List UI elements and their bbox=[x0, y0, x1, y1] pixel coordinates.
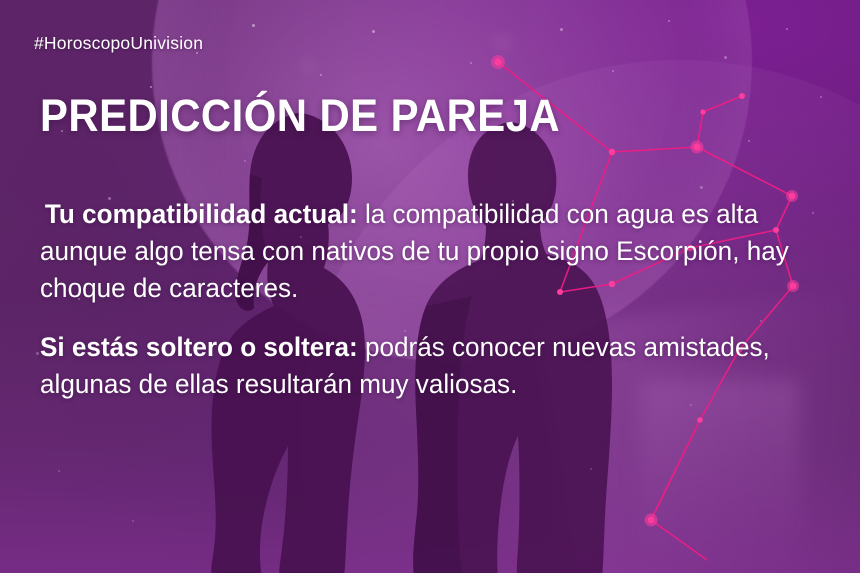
horoscope-body: Tu compatibilidad actual: la compatibili… bbox=[40, 196, 818, 403]
page-title: PREDICCIÓN DE PAREJA bbox=[40, 92, 560, 139]
hashtag-label: #HoroscopoUnivision bbox=[34, 33, 203, 54]
text-content: #HoroscopoUnivision PREDICCIÓN DE PAREJA… bbox=[0, 0, 860, 573]
section-single-lead: Si estás soltero o soltera: bbox=[40, 332, 358, 362]
section-single: Si estás soltero o soltera: podrás conoc… bbox=[40, 329, 818, 403]
horoscope-graphic: #HoroscopoUnivision PREDICCIÓN DE PAREJA… bbox=[0, 0, 860, 573]
section-compatibility-lead: Tu compatibilidad actual: bbox=[40, 199, 358, 229]
section-compatibility: Tu compatibilidad actual: la compatibili… bbox=[40, 196, 818, 307]
